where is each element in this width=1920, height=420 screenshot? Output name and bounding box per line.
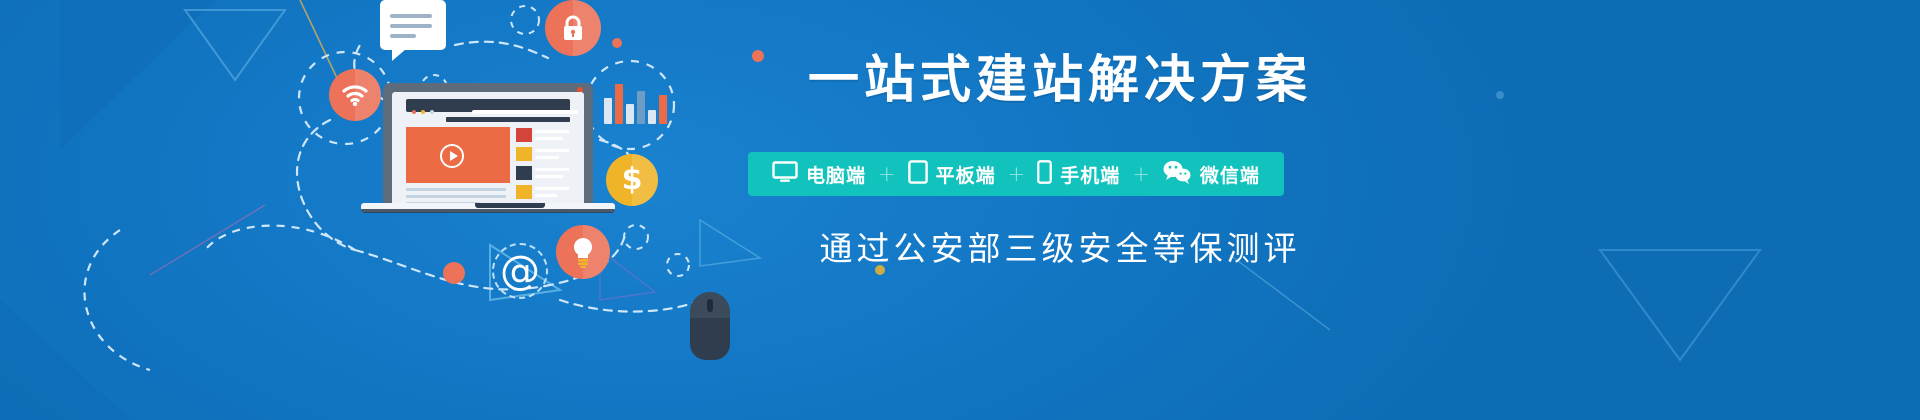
- at-symbol-icon: @: [492, 243, 548, 299]
- banner-tagline: 通过公安部三级安全等保测评: [800, 232, 1320, 265]
- platform-label: 微信端: [1200, 161, 1260, 188]
- platform-item-mobile[interactable]: 手机端: [1027, 160, 1130, 188]
- banner-copy: 一站式建站解决方案 电脑端 + 平板端: [760, 0, 1920, 420]
- lightbulb-icon: [556, 225, 610, 279]
- plus-separator: +: [876, 162, 898, 186]
- plus-separator: +: [1006, 162, 1028, 186]
- accent-dot: [612, 38, 622, 48]
- hero-illustration: $ @: [0, 0, 760, 420]
- accent-dot: [443, 262, 465, 284]
- mobile-phone-icon: [1037, 160, 1052, 188]
- platform-label: 平板端: [936, 161, 996, 188]
- browser-viewport: [392, 92, 584, 205]
- tablet-icon: [908, 160, 928, 188]
- platform-item-wechat[interactable]: 微信端: [1152, 160, 1270, 188]
- browser-chrome-bar: [406, 99, 570, 112]
- promo-banner: $ @: [0, 0, 1920, 420]
- platform-support-bar: 电脑端 + 平板端 + 手机端 +: [748, 152, 1284, 196]
- play-triangle-icon: [450, 151, 458, 161]
- wifi-icon: [329, 69, 381, 121]
- bar-chart-icon: [604, 78, 668, 124]
- platform-label: 手机端: [1060, 161, 1120, 188]
- platform-label: 电脑端: [806, 161, 866, 188]
- lock-icon: [545, 0, 601, 56]
- laptop-browser-mockup: [383, 83, 593, 213]
- laptop-base-shadow: [361, 209, 615, 213]
- page-header-bar: [446, 117, 570, 122]
- wechat-icon: [1162, 160, 1192, 188]
- computer-mouse-icon: [690, 292, 730, 360]
- dollar-coin-icon: $: [606, 154, 658, 206]
- platform-item-tablet[interactable]: 平板端: [898, 160, 1006, 188]
- platform-item-desktop[interactable]: 电脑端: [762, 161, 876, 188]
- chat-bubble-icon: [380, 0, 446, 50]
- laptop-trackpad-notch: [475, 203, 545, 208]
- banner-headline: 一站式建站解决方案: [800, 55, 1320, 106]
- plus-separator: +: [1130, 162, 1152, 186]
- browser-url-bar: [472, 110, 578, 114]
- desktop-monitor-icon: [772, 161, 798, 187]
